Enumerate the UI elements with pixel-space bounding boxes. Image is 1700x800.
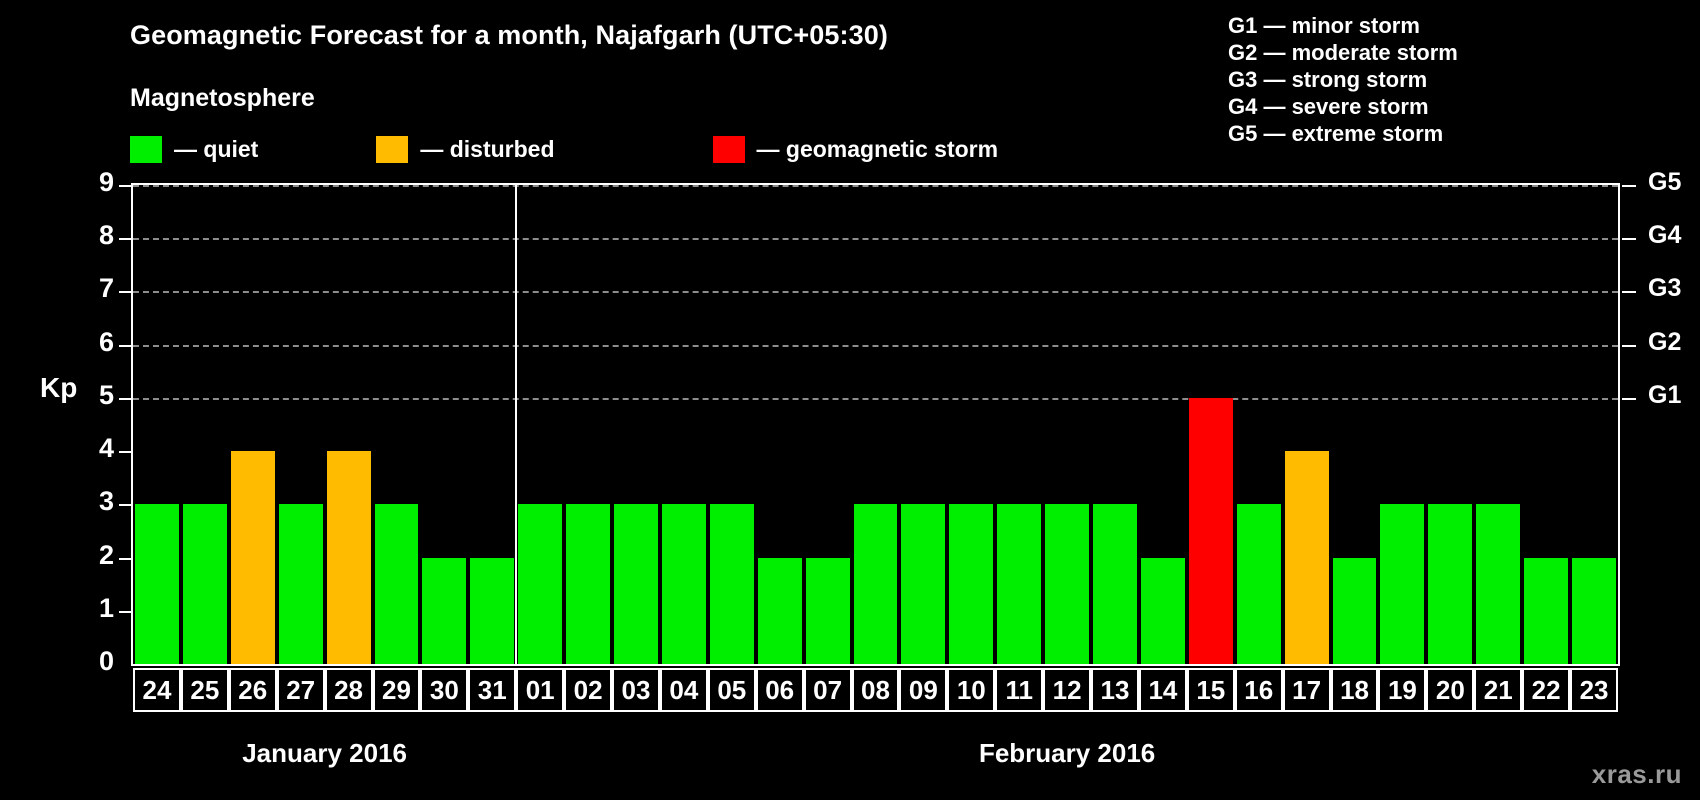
gscale-legend-line-5: G5 — extreme storm [1228, 120, 1458, 147]
bar-fill [614, 504, 658, 664]
bar-26[interactable] [231, 451, 275, 664]
date-cell-14[interactable]: 14 [1139, 668, 1187, 712]
bar-fill [1237, 504, 1281, 664]
bar-series [133, 185, 1618, 664]
y-tick-label-9: 9 [78, 167, 114, 198]
bar-09[interactable] [901, 504, 945, 664]
watermark: xras.ru [1592, 759, 1682, 790]
date-axis: 2425262728293031010203040506070809101112… [131, 668, 1620, 712]
bar-04[interactable] [662, 504, 706, 664]
date-cell-03[interactable]: 03 [612, 668, 660, 712]
bar-31[interactable] [470, 558, 514, 664]
plot-area [131, 183, 1620, 666]
g-tick-mark-G3 [1622, 291, 1636, 293]
legend-heading: Magnetosphere [130, 84, 315, 113]
bar-fill [1333, 558, 1377, 664]
bar-17[interactable] [1285, 451, 1329, 664]
g-tick-label-G3: G3 [1648, 274, 1681, 303]
bar-fill [1380, 504, 1424, 664]
bar-25[interactable] [183, 504, 227, 664]
y-tick-mark-3 [119, 504, 131, 506]
bar-12[interactable] [1045, 504, 1089, 664]
g-tick-mark-G5 [1622, 185, 1636, 187]
date-cell-08[interactable]: 08 [852, 668, 900, 712]
g-tick-mark-G2 [1622, 345, 1636, 347]
bar-fill [375, 504, 419, 664]
magnetosphere-legend: — quiet— disturbed— geomagnetic storm [130, 134, 998, 164]
date-cell-21[interactable]: 21 [1474, 668, 1522, 712]
date-cell-15[interactable]: 15 [1187, 668, 1235, 712]
bar-11[interactable] [997, 504, 1041, 664]
bar-29[interactable] [375, 504, 419, 664]
g-tick-label-G1: G1 [1648, 381, 1681, 410]
bar-fill [1285, 451, 1329, 664]
date-cell-26[interactable]: 26 [229, 668, 277, 712]
y-axis-title: Kp [40, 372, 77, 404]
legend-swatch-quiet-icon [130, 136, 162, 163]
bar-01[interactable] [518, 504, 562, 664]
bar-13[interactable] [1093, 504, 1137, 664]
bar-28[interactable] [327, 451, 371, 664]
bar-19[interactable] [1380, 504, 1424, 664]
y-tick-label-7: 7 [78, 273, 114, 304]
gscale-legend-line-2: G2 — moderate storm [1228, 39, 1458, 66]
y-tick-label-8: 8 [78, 220, 114, 251]
date-cell-07[interactable]: 07 [804, 668, 852, 712]
bar-15[interactable] [1189, 398, 1233, 664]
bar-fill [279, 504, 323, 664]
gscale-legend: G1 — minor stormG2 — moderate stormG3 — … [1228, 12, 1458, 147]
date-cell-29[interactable]: 29 [373, 668, 421, 712]
gscale-legend-line-3: G3 — strong storm [1228, 66, 1458, 93]
bar-fill [662, 504, 706, 664]
bar-27[interactable] [279, 504, 323, 664]
gscale-legend-line-4: G4 — severe storm [1228, 93, 1458, 120]
bar-21[interactable] [1476, 504, 1520, 664]
legend-swatch-disturbed-icon [376, 136, 408, 163]
bar-fill [1141, 558, 1185, 664]
date-cell-20[interactable]: 20 [1426, 668, 1474, 712]
legend-item-quiet: — quiet [130, 136, 258, 163]
date-cell-10[interactable]: 10 [947, 668, 995, 712]
bar-08[interactable] [854, 504, 898, 664]
bar-07[interactable] [806, 558, 850, 664]
bar-10[interactable] [949, 504, 993, 664]
month-caption-january: January 2016 [242, 738, 407, 769]
bar-fill [183, 504, 227, 664]
legend-swatch-storm-icon [713, 136, 745, 163]
bar-fill [1572, 558, 1616, 664]
bar-18[interactable] [1333, 558, 1377, 664]
date-cell-22[interactable]: 22 [1522, 668, 1570, 712]
y-tick-mark-7 [119, 291, 131, 293]
bar-fill [710, 504, 754, 664]
bar-fill [854, 504, 898, 664]
bar-fill [1045, 504, 1089, 664]
g-tick-mark-G4 [1622, 238, 1636, 240]
date-cell-02[interactable]: 02 [564, 668, 612, 712]
date-cell-30[interactable]: 30 [420, 668, 468, 712]
gscale-legend-line-1: G1 — minor storm [1228, 12, 1458, 39]
date-cell-01[interactable]: 01 [516, 668, 564, 712]
y-tick-mark-8 [119, 238, 131, 240]
bar-fill [1093, 504, 1137, 664]
bar-30[interactable] [422, 558, 466, 664]
y-tick-mark-1 [119, 611, 131, 613]
date-cell-28[interactable]: 28 [325, 668, 373, 712]
g-tick-label-G4: G4 [1648, 221, 1681, 250]
legend-label-storm: — geomagnetic storm [757, 136, 999, 163]
bar-06[interactable] [758, 558, 802, 664]
date-cell-23[interactable]: 23 [1570, 668, 1618, 712]
bar-05[interactable] [710, 504, 754, 664]
bar-fill [422, 558, 466, 664]
y-tick-label-2: 2 [78, 540, 114, 571]
bar-fill [1189, 398, 1233, 664]
date-cell-24[interactable]: 24 [133, 668, 181, 712]
bar-fill [135, 504, 179, 664]
bar-fill [518, 504, 562, 664]
bar-fill [470, 558, 514, 664]
date-cell-18[interactable]: 18 [1331, 668, 1379, 712]
month-caption-february: February 2016 [979, 738, 1155, 769]
bar-fill [758, 558, 802, 664]
bar-fill [949, 504, 993, 664]
bar-fill [1476, 504, 1520, 664]
date-cell-17[interactable]: 17 [1283, 668, 1331, 712]
date-cell-19[interactable]: 19 [1378, 668, 1426, 712]
y-tick-label-4: 4 [78, 433, 114, 464]
g-tick-label-G2: G2 [1648, 328, 1681, 357]
page-title: Geomagnetic Forecast for a month, Najafg… [130, 20, 888, 51]
date-cell-05[interactable]: 05 [708, 668, 756, 712]
bar-16[interactable] [1237, 504, 1281, 664]
bar-02[interactable] [566, 504, 610, 664]
y-tick-label-0: 0 [78, 646, 114, 677]
y-tick-mark-6 [119, 345, 131, 347]
bar-23[interactable] [1572, 558, 1616, 664]
date-cell-13[interactable]: 13 [1091, 668, 1139, 712]
date-cell-06[interactable]: 06 [756, 668, 804, 712]
y-tick-label-1: 1 [78, 593, 114, 624]
y-tick-mark-2 [119, 558, 131, 560]
y-tick-label-3: 3 [78, 486, 114, 517]
bar-fill [901, 504, 945, 664]
date-cell-16[interactable]: 16 [1235, 668, 1283, 712]
bar-fill [997, 504, 1041, 664]
legend-label-disturbed: — disturbed [420, 136, 554, 163]
legend-label-quiet: — quiet [174, 136, 258, 163]
bar-14[interactable] [1141, 558, 1185, 664]
legend-item-disturbed: — disturbed [376, 136, 554, 163]
y-tick-mark-4 [119, 451, 131, 453]
bar-20[interactable] [1428, 504, 1472, 664]
g-tick-mark-G1 [1622, 398, 1636, 400]
bar-fill [806, 558, 850, 664]
bar-24[interactable] [135, 504, 179, 664]
date-cell-11[interactable]: 11 [995, 668, 1043, 712]
y-tick-label-6: 6 [78, 327, 114, 358]
date-cell-04[interactable]: 04 [660, 668, 708, 712]
bar-03[interactable] [614, 504, 658, 664]
date-cell-27[interactable]: 27 [277, 668, 325, 712]
date-cell-25[interactable]: 25 [181, 668, 229, 712]
date-cell-09[interactable]: 09 [899, 668, 947, 712]
bar-fill [566, 504, 610, 664]
bar-22[interactable] [1524, 558, 1568, 664]
bar-fill [1524, 558, 1568, 664]
date-cell-12[interactable]: 12 [1043, 668, 1091, 712]
date-cell-31[interactable]: 31 [468, 668, 516, 712]
g-tick-label-G5: G5 [1648, 168, 1681, 197]
y-tick-mark-9 [119, 185, 131, 187]
y-tick-mark-5 [119, 398, 131, 400]
bar-fill [327, 451, 371, 664]
bar-fill [1428, 504, 1472, 664]
y-tick-label-5: 5 [78, 380, 114, 411]
geomagnetic-forecast-chart: Geomagnetic Forecast for a month, Najafg… [0, 0, 1700, 800]
bar-fill [231, 451, 275, 664]
legend-item-storm: — geomagnetic storm [713, 136, 999, 163]
